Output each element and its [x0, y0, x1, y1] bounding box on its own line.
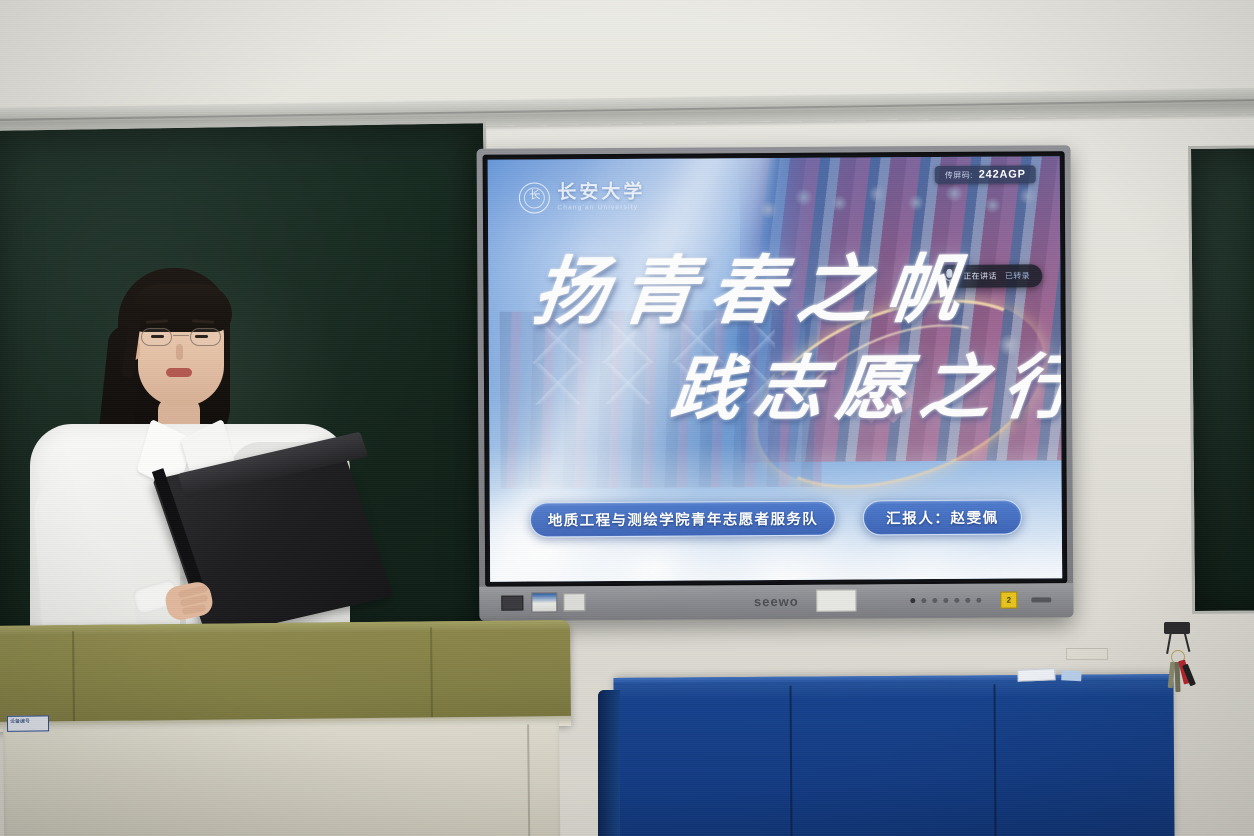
cast-code-value: 242AGP	[979, 169, 1026, 181]
eye-left	[151, 335, 164, 338]
home-button[interactable]	[965, 598, 970, 603]
university-name-en: Chang'an University	[557, 205, 645, 212]
department-badge: 地质工程与测绘学院青年志愿者服务队	[530, 500, 837, 537]
podium-seam-left	[72, 631, 75, 727]
cabinet-left-return	[598, 690, 620, 836]
smartboard-brand-logo: seewo	[754, 594, 799, 609]
infrared-receiver	[1031, 597, 1051, 602]
key-cord-left	[1166, 632, 1172, 654]
nose	[176, 344, 183, 360]
smartboard-screen[interactable]: 长 长安大学 Chang'an University 传屏码: 242AGP	[488, 156, 1063, 581]
presentation-slide: 长 长安大学 Chang'an University 传屏码: 242AGP	[488, 156, 1063, 581]
chalkboard-sheen-right	[1191, 148, 1254, 611]
smartboard-display[interactable]: 长 长安大学 Chang'an University 传屏码: 242AGP	[477, 145, 1074, 621]
wall-mount-plate	[1066, 648, 1108, 660]
podium-asset-sticker: 设备编号	[7, 715, 49, 731]
mic-status-text: 正在讲话	[963, 270, 997, 281]
smartboard-spec-label	[816, 590, 856, 612]
university-logo-text: 长安大学 Chang'an University	[557, 183, 645, 212]
lectern-podium: 设备编号	[0, 620, 572, 836]
chin-sticker-blue	[531, 592, 557, 612]
chin-sticker-white	[563, 593, 585, 611]
speaker-badge: 汇报人：赵雯佩	[863, 499, 1022, 535]
podium-cabinet-body	[3, 720, 560, 836]
presenter	[30, 266, 350, 666]
smartboard-chin: seewo 2	[479, 583, 1073, 621]
mouth	[166, 368, 192, 377]
shirt-button-2	[180, 576, 185, 581]
yellow-asset-sticker: 2	[1000, 592, 1017, 609]
university-name-cn: 长安大学	[557, 183, 645, 203]
screen-cast-code-badge[interactable]: 传屏码: 242AGP	[935, 166, 1036, 185]
cabinet-door-seam-2	[993, 684, 996, 836]
chalkboard-right	[1188, 145, 1254, 614]
podium-top-panel	[0, 620, 571, 730]
back-button[interactable]	[976, 598, 981, 603]
slide-footer-row: 地质工程与测绘学院青年志愿者服务队 汇报人：赵雯佩	[490, 499, 1062, 537]
microphone-status-toast[interactable]: 正在讲话 已转录	[936, 264, 1042, 288]
university-seal-icon: 长	[519, 183, 550, 214]
eye-right	[195, 335, 208, 338]
volume-down-button[interactable]	[943, 598, 948, 603]
podium-seam-right	[430, 627, 433, 723]
blue-cabinet	[613, 674, 1174, 836]
paper-on-cabinet-2	[1061, 670, 1081, 681]
power-button[interactable]	[910, 598, 915, 603]
heart-hands-icon	[849, 389, 893, 429]
seal-glyph: 长	[520, 191, 549, 202]
microphone-icon	[944, 269, 955, 284]
smartboard-bezel: 长 长安大学 Chang'an University 传屏码: 242AGP	[483, 151, 1068, 587]
classroom-scene: 长 长安大学 Chang'an University 传屏码: 242AGP	[0, 0, 1254, 836]
cabinet-door-seam-1	[789, 686, 792, 836]
key-hook	[1164, 622, 1190, 634]
menu-button[interactable]	[921, 598, 926, 603]
podium-body-seam	[527, 724, 530, 836]
cast-code-label: 传屏码:	[945, 170, 973, 181]
chin-sticker-dark	[501, 596, 523, 611]
university-logo: 长 长安大学 Chang'an University	[519, 182, 645, 214]
source-button[interactable]	[932, 598, 937, 603]
key-cord-right	[1184, 632, 1191, 652]
hair-bangs	[130, 284, 232, 332]
hanging-keys[interactable]	[1158, 622, 1200, 692]
mic-secondary-text: 已转录	[1005, 270, 1030, 281]
volume-up-button[interactable]	[954, 598, 959, 603]
paper-on-cabinet	[1017, 668, 1055, 682]
smartboard-button-row[interactable]	[910, 598, 981, 603]
glasses-bridge	[173, 335, 189, 336]
